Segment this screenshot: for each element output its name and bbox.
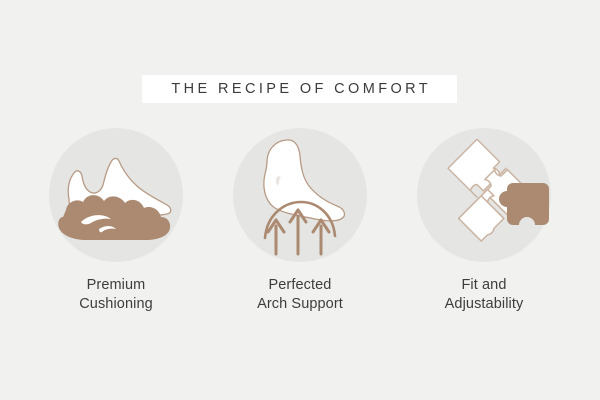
feature-row: Premium Cushioning bbox=[0, 128, 600, 315]
title-banner: THE RECIPE OF COMFORT bbox=[142, 75, 457, 103]
feature-label-fit-adjustability: Fit and Adjustability bbox=[445, 276, 524, 315]
infographic-poster: THE RECIPE OF COMFORT Premium Cushioning bbox=[0, 0, 600, 400]
puzzle-pieces-icon bbox=[421, 135, 547, 255]
icon-circle-fit-adjustability bbox=[417, 128, 551, 262]
icon-circle-arch-support bbox=[233, 128, 367, 262]
feature-label-premium-cushioning: Premium Cushioning bbox=[79, 276, 153, 315]
feature-item-arch-support: Perfected Arch Support bbox=[208, 128, 392, 315]
foot-arch-support-icon bbox=[245, 136, 355, 254]
feature-item-fit-adjustability: Fit and Adjustability bbox=[392, 128, 576, 315]
feature-item-premium-cushioning: Premium Cushioning bbox=[24, 128, 208, 315]
icon-circle-premium-cushioning bbox=[49, 128, 183, 262]
feature-label-arch-support: Perfected Arch Support bbox=[257, 276, 343, 315]
shoe-cushion-icon bbox=[57, 143, 175, 247]
page-title: THE RECIPE OF COMFORT bbox=[168, 81, 431, 97]
